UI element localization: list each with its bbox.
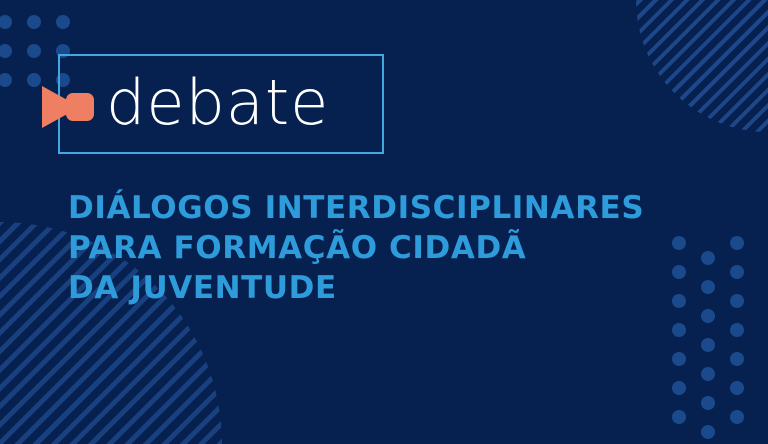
decorative-dot xyxy=(730,265,744,279)
decorative-dot xyxy=(672,352,686,366)
decorative-dot xyxy=(730,323,744,337)
decorative-dot xyxy=(730,352,744,366)
decorative-dot xyxy=(730,294,744,308)
decorative-dot xyxy=(672,410,686,424)
headline-line-2: PARA FORMAÇÃO CIDADÃ xyxy=(68,228,728,268)
decorative-dot xyxy=(0,15,12,29)
decorative-dot xyxy=(672,381,686,395)
decorative-dot xyxy=(56,15,70,29)
decorative-dot xyxy=(701,309,715,323)
headline-line-1: DIÁLOGOS INTERDISCIPLINARES xyxy=(68,188,728,228)
decorative-dot xyxy=(701,338,715,352)
decorative-dot xyxy=(0,44,12,58)
promo-banner: debate DIÁLOGOS INTERDISCIPLINARES PARA … xyxy=(0,0,768,444)
decorative-dot xyxy=(730,410,744,424)
decorative-dot xyxy=(730,381,744,395)
decorative-dot xyxy=(701,367,715,381)
decorative-dot xyxy=(701,396,715,410)
debate-wordmark: debate xyxy=(106,72,329,134)
decorative-dot xyxy=(27,15,41,29)
headline-block: DIÁLOGOS INTERDISCIPLINARES PARA FORMAÇÃ… xyxy=(68,188,728,308)
decorative-dot xyxy=(730,236,744,250)
decorative-dot xyxy=(672,323,686,337)
diagonal-stripes-top-right-icon xyxy=(636,0,768,132)
decorative-dot xyxy=(27,73,41,87)
debate-logo-lockup[interactable]: debate xyxy=(58,54,384,154)
decorative-dot xyxy=(701,425,715,439)
decorative-dot xyxy=(27,44,41,58)
decorative-dot xyxy=(0,73,12,87)
play-triangle-icon xyxy=(42,86,80,128)
headline-line-3: DA JUVENTUDE xyxy=(68,268,728,308)
